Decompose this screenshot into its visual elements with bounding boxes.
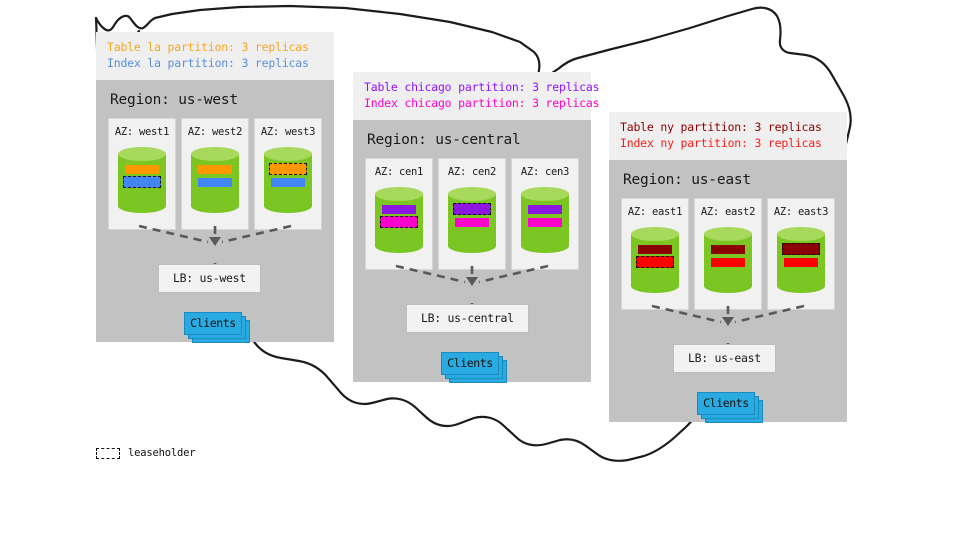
az-label-cen3: AZ: cen3	[512, 166, 578, 178]
replica-band-index-leaseholder	[636, 256, 674, 268]
node-cylinder-west1[interactable]	[118, 147, 166, 211]
replica-band-index-leaseholder	[380, 216, 418, 228]
table-partition-label: Table chicago partition: 3 replicas	[364, 79, 580, 95]
az-row-us-west: AZ: west1 AZ: west2	[108, 118, 322, 230]
region-title-us-east: Region: us-east	[609, 160, 847, 198]
clients-label-us-west: Clients	[190, 316, 236, 330]
cylinder-top	[448, 187, 496, 201]
clients-box-us-central[interactable]: Clients	[441, 352, 499, 375]
az-box-east3[interactable]: AZ: east3	[767, 198, 835, 310]
node-cylinder-east1[interactable]	[631, 227, 679, 291]
replica-band-table	[638, 245, 672, 254]
az-label-east3: AZ: east3	[768, 206, 834, 218]
node-cylinder-west3[interactable]	[264, 147, 312, 211]
lb-label-us-west: LB: us-west	[173, 271, 246, 285]
lb-box-us-west[interactable]: LB: us-west	[158, 264, 261, 293]
region-body-us-west: Region: us-west AZ: west1 AZ: west2	[96, 80, 334, 342]
partition-legend-us-central: Table chicago partition: 3 replicas Inde…	[353, 72, 591, 120]
node-cylinder-cen3[interactable]	[521, 187, 569, 251]
dashed-rectangle-icon	[96, 448, 120, 459]
replica-band-table	[528, 205, 562, 214]
lb-box-us-east[interactable]: LB: us-east	[673, 344, 776, 373]
replica-band-table	[382, 205, 416, 214]
region-body-us-central: Region: us-central AZ: cen1 AZ: cen2	[353, 120, 591, 382]
node-cylinder-east2[interactable]	[704, 227, 752, 291]
az-label-east1: AZ: east1	[622, 206, 688, 218]
clients-label-us-east: Clients	[703, 396, 749, 410]
replica-band-index	[784, 258, 818, 267]
az-box-west1[interactable]: AZ: west1	[108, 118, 176, 230]
cylinder-top	[631, 227, 679, 241]
node-cylinder-cen2[interactable]	[448, 187, 496, 251]
replica-band-table-leaseholder	[453, 203, 491, 215]
az-box-east2[interactable]: AZ: east2	[694, 198, 762, 310]
az-label-cen1: AZ: cen1	[366, 166, 432, 178]
partition-legend-us-west: Table la partition: 3 replicas Index la …	[96, 32, 334, 80]
cylinder-top	[521, 187, 569, 201]
az-box-west3[interactable]: AZ: west3	[254, 118, 322, 230]
cylinder-top	[375, 187, 423, 201]
replica-band-index	[711, 258, 745, 267]
node-cylinder-west2[interactable]	[191, 147, 239, 211]
table-partition-label: Table la partition: 3 replicas	[107, 39, 323, 55]
cylinder-top	[704, 227, 752, 241]
az-row-us-central: AZ: cen1 AZ: cen2	[365, 158, 579, 270]
replica-band-index	[455, 218, 489, 227]
cylinder-top	[191, 147, 239, 161]
index-partition-label: Index la partition: 3 replicas	[107, 55, 323, 71]
lb-label-us-central: LB: us-central	[421, 311, 514, 325]
az-box-cen3[interactable]: AZ: cen3	[511, 158, 579, 270]
table-partition-label: Table ny partition: 3 replicas	[620, 119, 836, 135]
cylinder-top	[264, 147, 312, 161]
leaseholder-legend: leaseholder	[96, 447, 195, 459]
az-box-cen1[interactable]: AZ: cen1	[365, 158, 433, 270]
az-label-west2: AZ: west2	[182, 126, 248, 138]
lb-label-us-east: LB: us-east	[688, 351, 761, 365]
clients-stack-us-west[interactable]: Clients	[184, 312, 254, 344]
region-panel-us-east: Table ny partition: 3 replicas Index ny …	[609, 112, 847, 422]
az-box-west2[interactable]: AZ: west2	[181, 118, 249, 230]
clients-box-us-east[interactable]: Clients	[697, 392, 755, 415]
node-cylinder-cen1[interactable]	[375, 187, 423, 251]
replica-band-index	[528, 218, 562, 227]
region-panel-us-central: Table chicago partition: 3 replicas Inde…	[353, 72, 591, 382]
az-row-us-east: AZ: east1 AZ: east2	[621, 198, 835, 310]
diagram-canvas: Table la partition: 3 replicas Index la …	[0, 0, 960, 540]
az-label-cen2: AZ: cen2	[439, 166, 505, 178]
region-title-us-west: Region: us-west	[96, 80, 334, 118]
node-cylinder-east3[interactable]	[777, 227, 825, 291]
region-panel-us-west: Table la partition: 3 replicas Index la …	[96, 32, 334, 342]
replica-band-table-leaseholder	[782, 243, 820, 255]
az-label-east2: AZ: east2	[695, 206, 761, 218]
replica-band-table	[125, 165, 159, 174]
replica-band-table	[711, 245, 745, 254]
az-label-west3: AZ: west3	[255, 126, 321, 138]
clients-label-us-central: Clients	[447, 356, 493, 370]
lb-box-us-central[interactable]: LB: us-central	[406, 304, 529, 333]
replica-band-table-leaseholder	[269, 163, 307, 175]
az-label-west1: AZ: west1	[109, 126, 175, 138]
index-partition-label: Index ny partition: 3 replicas	[620, 135, 836, 151]
cylinder-top	[118, 147, 166, 161]
leaseholder-legend-label: leaseholder	[128, 447, 195, 459]
replica-band-index	[198, 178, 232, 187]
az-box-east1[interactable]: AZ: east1	[621, 198, 689, 310]
index-partition-label: Index chicago partition: 3 replicas	[364, 95, 580, 111]
clients-stack-us-central[interactable]: Clients	[441, 352, 511, 384]
az-box-cen2[interactable]: AZ: cen2	[438, 158, 506, 270]
region-body-us-east: Region: us-east AZ: east1 AZ: east2	[609, 160, 847, 422]
replica-band-table	[198, 165, 232, 174]
clients-stack-us-east[interactable]: Clients	[697, 392, 767, 424]
partition-legend-us-east: Table ny partition: 3 replicas Index ny …	[609, 112, 847, 160]
cylinder-top	[777, 227, 825, 241]
replica-band-index-leaseholder	[123, 176, 161, 188]
clients-box-us-west[interactable]: Clients	[184, 312, 242, 335]
replica-band-index	[271, 178, 305, 187]
region-title-us-central: Region: us-central	[353, 120, 591, 158]
